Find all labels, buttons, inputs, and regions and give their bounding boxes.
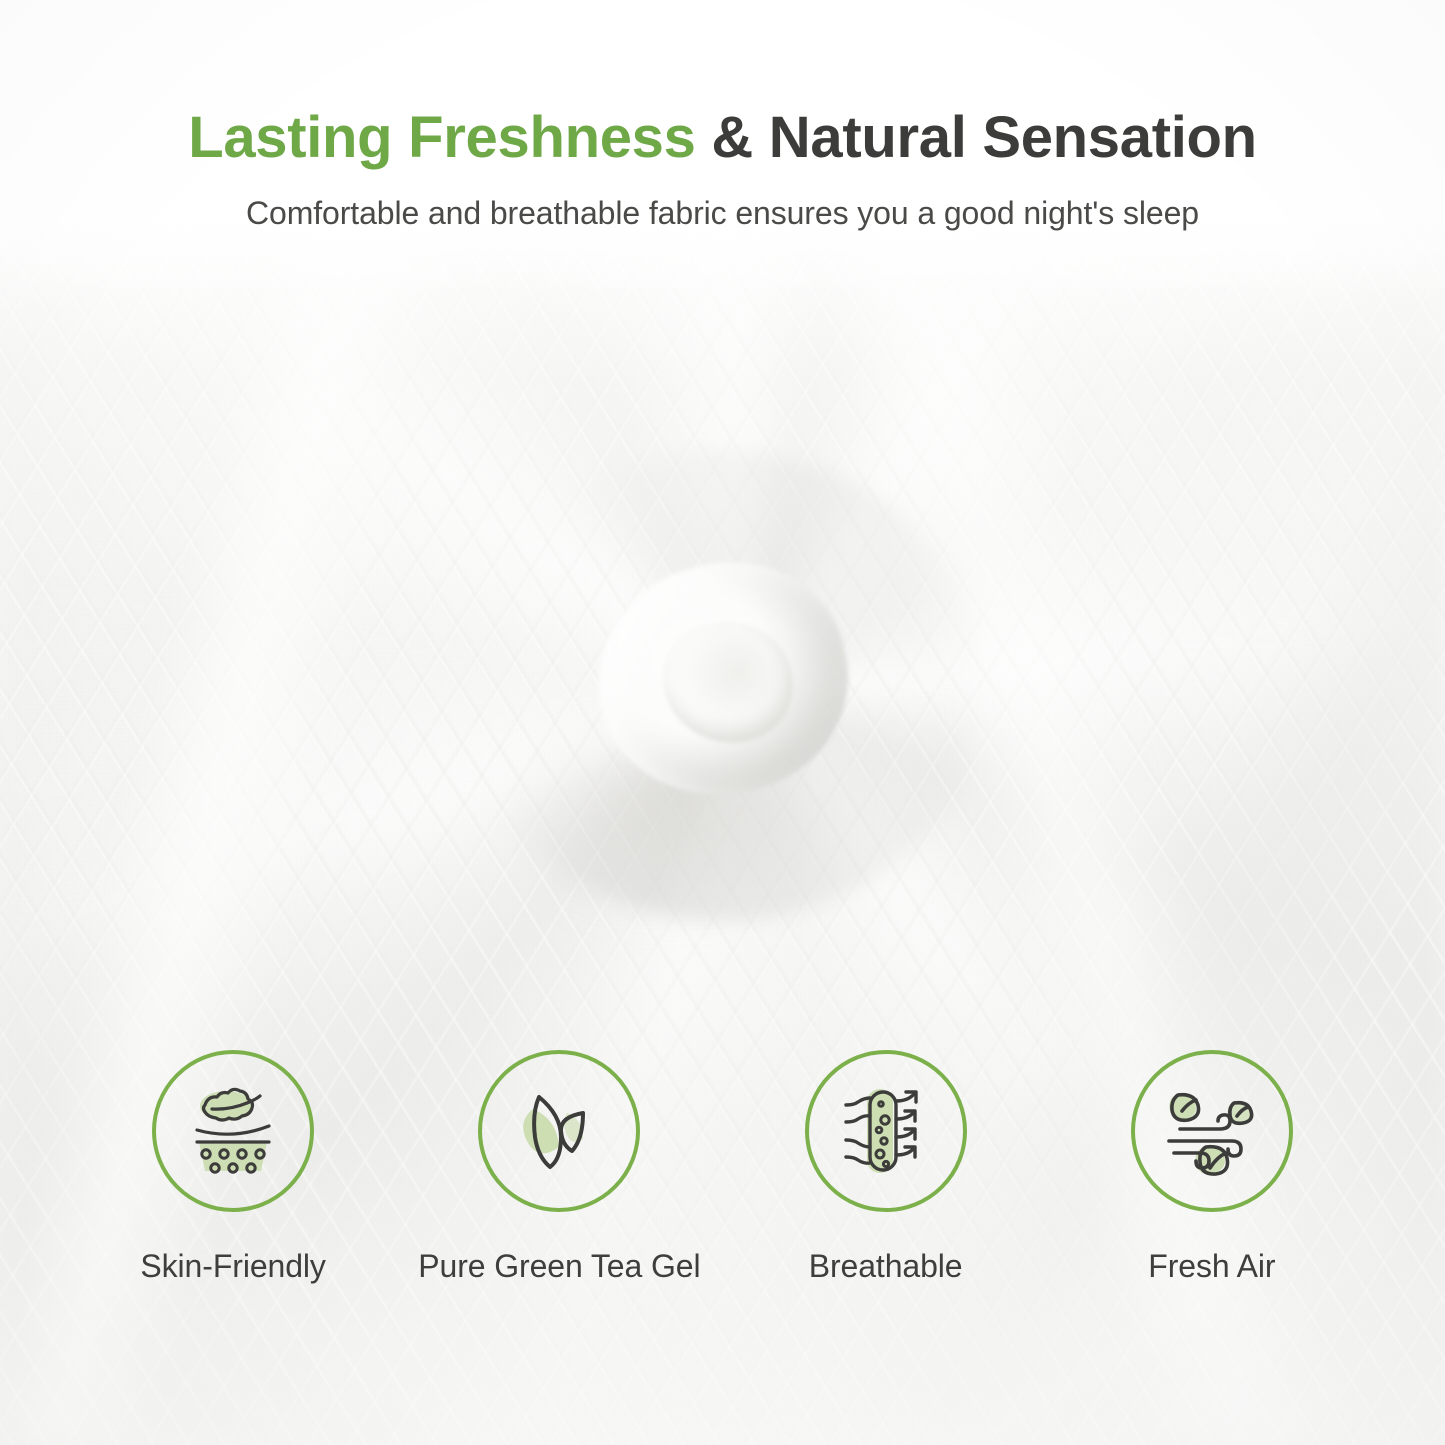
- page-subtitle: Comfortable and breathable fabric ensure…: [0, 195, 1445, 232]
- page-title: Lasting Freshness & Natural Sensation: [0, 108, 1445, 169]
- fabric-swirl-outer: [463, 451, 983, 921]
- feather-on-fabric-icon: [181, 1079, 285, 1183]
- feature-item-skin-friendly: Skin-Friendly: [70, 1050, 396, 1285]
- feature-label: Skin-Friendly: [140, 1248, 325, 1285]
- product-feature-banner: Lasting Freshness & Natural Sensation Co…: [0, 0, 1445, 1445]
- fabric-swirl-core: [647, 605, 810, 760]
- airflow-foam-icon: [834, 1079, 938, 1183]
- feature-label: Breathable: [809, 1248, 963, 1285]
- wind-leaves-icon: [1160, 1079, 1264, 1183]
- header-block: Lasting Freshness & Natural Sensation Co…: [0, 108, 1445, 232]
- feature-item-green-tea-gel: Pure Green Tea Gel: [396, 1050, 722, 1285]
- feature-label: Pure Green Tea Gel: [418, 1248, 700, 1285]
- feature-icon-ring: [805, 1050, 967, 1212]
- feature-icon-ring: [152, 1050, 314, 1212]
- fabric-swirl-shadow: [489, 704, 869, 914]
- feature-icon-ring: [478, 1050, 640, 1212]
- two-leaves-icon: [507, 1079, 611, 1183]
- feature-icon-ring: [1131, 1050, 1293, 1212]
- feature-label: Fresh Air: [1148, 1248, 1275, 1285]
- page-title-accent: Lasting Freshness: [188, 105, 695, 170]
- feature-list: Skin-Friendly Pure Green Tea Gel: [70, 1050, 1375, 1285]
- feature-item-breathable: Breathable: [723, 1050, 1049, 1285]
- page-title-rest: & Natural Sensation: [696, 105, 1257, 170]
- feature-item-fresh-air: Fresh Air: [1049, 1050, 1375, 1285]
- fabric-swirl-middle: [573, 537, 871, 821]
